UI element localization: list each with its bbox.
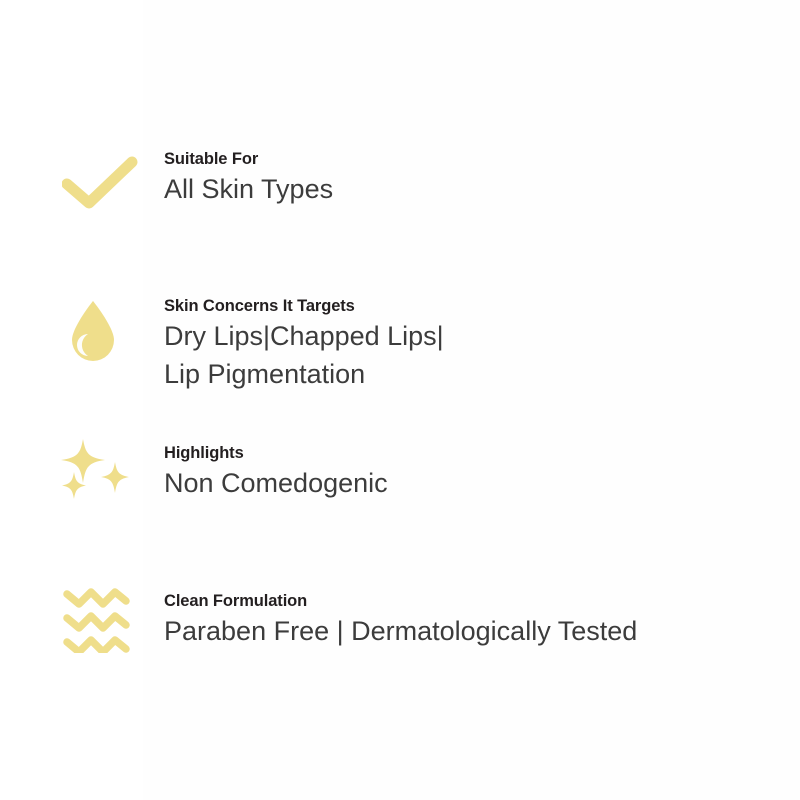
feature-body: Non Comedogenic <box>164 464 388 502</box>
feature-body-line: Paraben Free | Dermatologically Tested <box>164 612 637 650</box>
feature-heading: Suitable For <box>164 150 333 170</box>
feature-text-clean-formulation: Clean Formulation Paraben Free | Dermato… <box>164 592 637 650</box>
feature-heading: Clean Formulation <box>164 592 637 612</box>
feature-body: Dry Lips|Chapped Lips| Lip Pigmentation <box>164 317 444 394</box>
feature-body-line: Lip Pigmentation <box>164 355 444 393</box>
feature-text-suitable-for: Suitable For All Skin Types <box>164 150 333 208</box>
feature-body-line: Dry Lips|Chapped Lips| <box>164 317 444 355</box>
checkmark-icon <box>62 155 138 216</box>
waves-icon <box>62 585 134 658</box>
feature-body: All Skin Types <box>164 170 333 208</box>
feature-body-line: Non Comedogenic <box>164 464 388 502</box>
feature-list: Suitable For All Skin Types Skin Concern… <box>0 0 800 800</box>
sparkles-icon <box>57 437 135 510</box>
feature-body-line: All Skin Types <box>164 170 333 208</box>
feature-text-highlights: Highlights Non Comedogenic <box>164 444 388 502</box>
droplet-icon <box>66 298 120 373</box>
feature-text-skin-concerns: Skin Concerns It Targets Dry Lips|Chappe… <box>164 297 444 393</box>
feature-heading: Skin Concerns It Targets <box>164 297 444 317</box>
feature-body: Paraben Free | Dermatologically Tested <box>164 612 637 650</box>
feature-heading: Highlights <box>164 444 388 464</box>
